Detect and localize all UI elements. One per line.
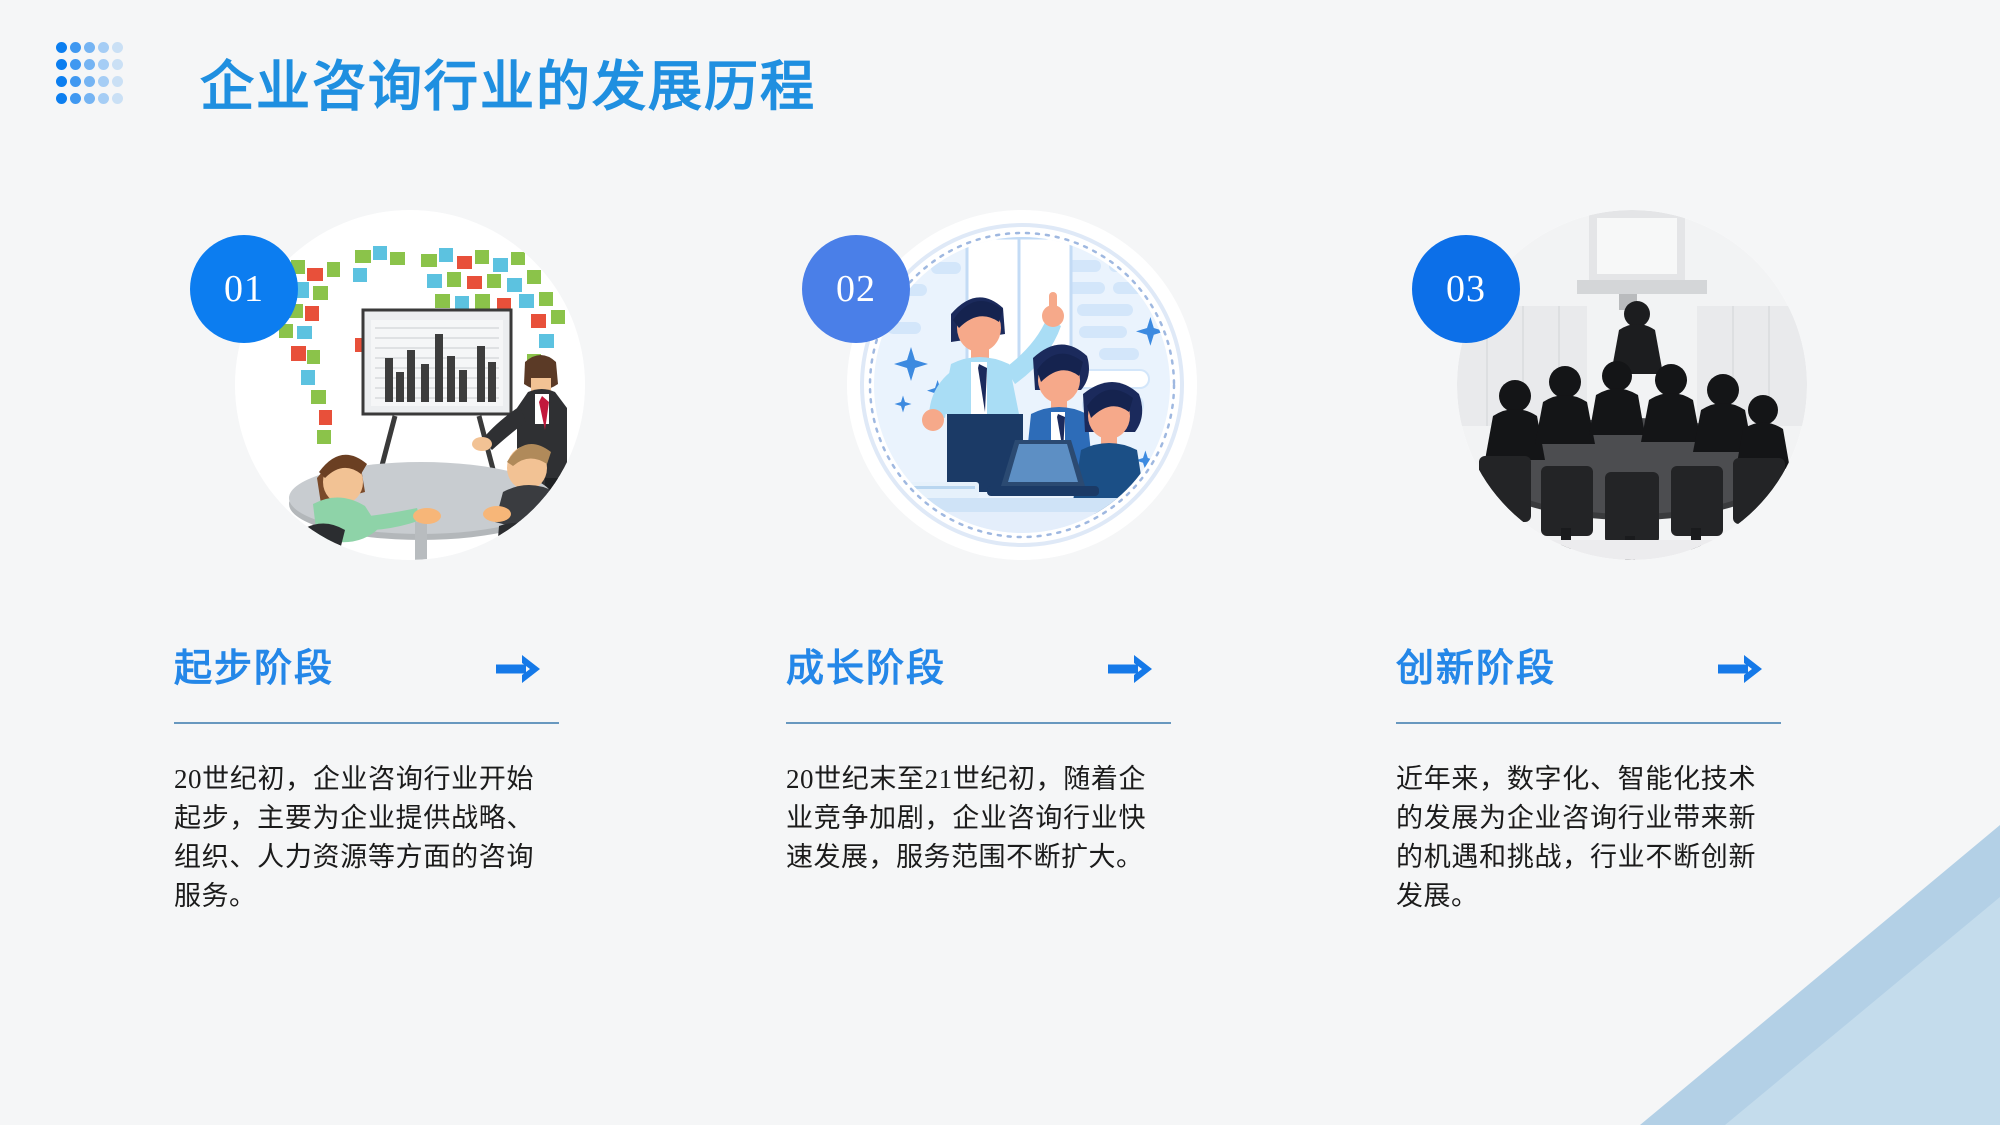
- card-number: 01: [224, 267, 264, 311]
- card-body-text: 20世纪末至21世纪初，随着企业竞争加剧，企业咨询行业快速发展，服务范围不断扩大…: [786, 760, 1146, 877]
- slide-canvas: 企业咨询行业的发展历程: [0, 0, 2000, 1125]
- arrow-right-icon[interactable]: [1106, 652, 1158, 686]
- card-number: 03: [1446, 267, 1486, 311]
- card-divider: [174, 722, 559, 724]
- card-title: 创新阶段: [1396, 650, 1556, 688]
- card-number-badge: 01: [190, 235, 298, 343]
- card-number-badge: 03: [1412, 235, 1520, 343]
- card-title: 起步阶段: [174, 650, 334, 688]
- card-divider: [1396, 722, 1781, 724]
- card-number-badge: 02: [802, 235, 910, 343]
- card-stage-3[interactable]: 03 创新阶段 近年来，数字化、智能化技术的发展为企业咨询行业带来新的机遇和挑战…: [1390, 210, 1840, 917]
- corner-triangle-decoration-inner: [1725, 897, 2000, 1125]
- card-title: 成长阶段: [786, 650, 946, 688]
- card-title-row: 起步阶段: [174, 640, 562, 698]
- card-title-row: 创新阶段: [1396, 640, 1784, 698]
- card-number: 02: [836, 267, 876, 311]
- illustration-wrap: 01: [190, 210, 550, 570]
- card-stage-2[interactable]: 02 成长阶段 20世纪末至21世纪初，随着企业竞争加剧，企业咨询行业快速发展，…: [780, 210, 1230, 877]
- illustration-wrap: 03: [1412, 210, 1772, 570]
- card-body-text: 20世纪初，企业咨询行业开始起步，主要为企业提供战略、组织、人力资源等方面的咨询…: [174, 760, 534, 917]
- card-divider: [786, 722, 1171, 724]
- illustration-wrap: 02: [802, 210, 1162, 570]
- arrow-right-icon[interactable]: [1716, 652, 1768, 686]
- card-title-row: 成长阶段: [786, 640, 1174, 698]
- card-stage-1[interactable]: 01 起步阶段 20世纪初，企业咨询行业开始起步，主要为企业提供战略、组织、人力…: [168, 210, 618, 917]
- arrow-right-icon[interactable]: [494, 652, 546, 686]
